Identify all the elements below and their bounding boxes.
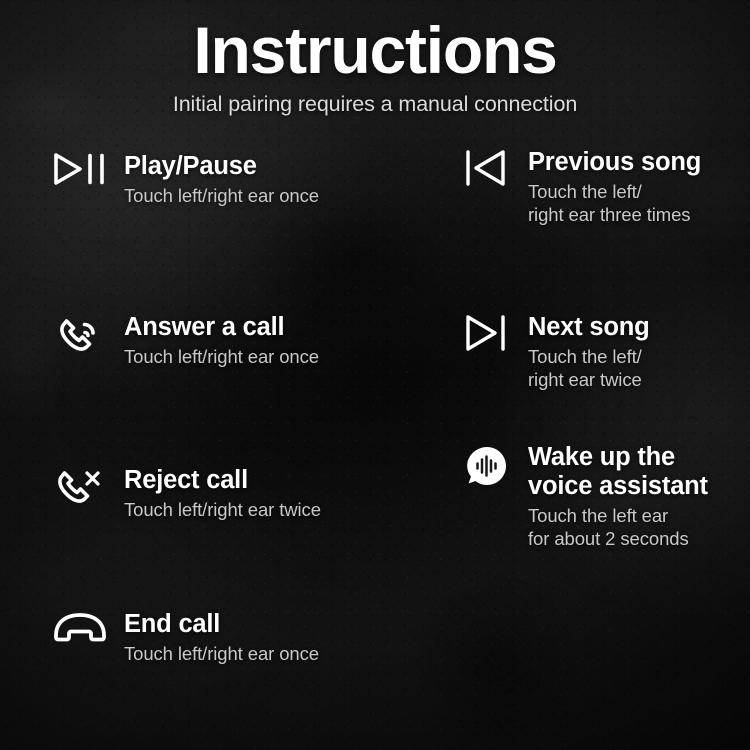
instruction-text-previous-song: Previous song Touch the left/ right ear … [528,148,701,226]
instruction-desc: Touch left/right ear twice [124,498,321,521]
instruction-item-play-pause: Play/Pause Touch left/right ear once [52,152,319,207]
instruction-item-voice-assistant: Wake up the voice assistant Touch the le… [460,443,708,550]
instruction-title: Answer a call [124,313,319,342]
reject-call-icon [52,466,108,512]
end-call-icon [52,610,108,644]
instruction-desc: Touch left/right ear once [124,345,319,368]
instruction-item-end-call: End call Touch left/right ear once [52,610,319,665]
play-pause-icon [52,152,108,186]
next-track-icon [460,313,512,353]
voice-assistant-icon [460,443,512,489]
instruction-desc: Touch left/right ear once [124,184,319,207]
instruction-title: Wake up the voice assistant [528,443,708,501]
instruction-text-end-call: End call Touch left/right ear once [124,610,319,665]
instruction-desc: Touch left/right ear once [124,642,319,665]
page-subtitle: Initial pairing requires a manual connec… [0,92,750,117]
instruction-item-answer-call: Answer a call Touch left/right ear once [52,313,319,368]
instruction-title: Play/Pause [124,152,319,181]
previous-track-icon [460,148,512,188]
instruction-text-reject-call: Reject call Touch left/right ear twice [124,466,321,521]
instruction-title: Next song [528,313,649,342]
instruction-title: Reject call [124,466,321,495]
poster-header: Instructions Initial pairing requires a … [0,16,750,117]
instructions-poster: Instructions Initial pairing requires a … [0,0,750,750]
instruction-item-previous-song: Previous song Touch the left/ right ear … [460,148,701,226]
instruction-desc: Touch the left ear for about 2 seconds [528,504,708,550]
instruction-text-voice-assistant: Wake up the voice assistant Touch the le… [528,443,708,550]
page-title: Instructions [0,16,750,86]
instruction-desc: Touch the left/ right ear three times [528,180,701,226]
instruction-title: End call [124,610,319,639]
answer-call-icon [52,313,108,363]
instruction-desc: Touch the left/ right ear twice [528,345,649,391]
instruction-text-next-song: Next song Touch the left/ right ear twic… [528,313,649,391]
instruction-item-reject-call: Reject call Touch left/right ear twice [52,466,321,521]
instruction-text-play-pause: Play/Pause Touch left/right ear once [124,152,319,207]
instruction-title: Previous song [528,148,701,177]
instruction-text-answer-call: Answer a call Touch left/right ear once [124,313,319,368]
instruction-item-next-song: Next song Touch the left/ right ear twic… [460,313,649,391]
poster-content: Instructions Initial pairing requires a … [0,0,750,750]
